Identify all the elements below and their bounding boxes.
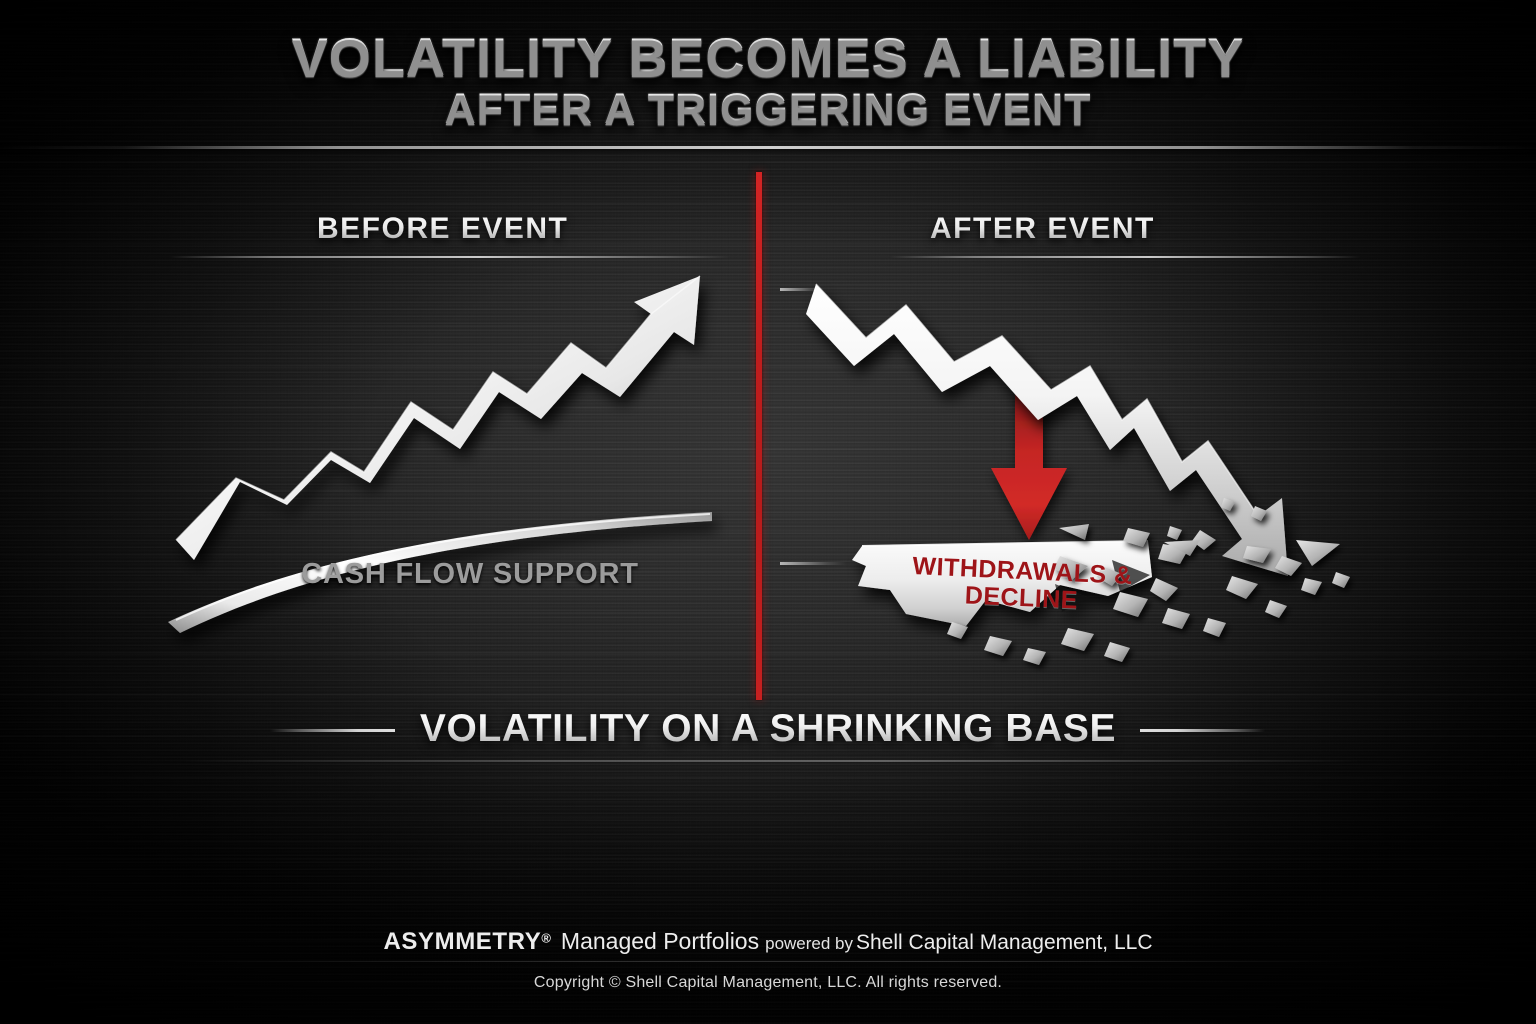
infographic-artwork	[0, 0, 1536, 1024]
infographic-canvas: VOLATILITY BECOMES A LIABILITY AFTER A T…	[0, 0, 1536, 1024]
banner-glow-line	[180, 760, 1360, 762]
footer-divider-rule	[170, 961, 1366, 962]
falling-trend-arrow	[806, 284, 1288, 576]
brand-powered-by: powered by	[765, 934, 853, 953]
banner-rule-left	[270, 729, 395, 732]
registered-trademark-symbol: ®	[541, 931, 551, 946]
banner-rule-right	[1140, 729, 1265, 732]
summary-banner-text: VOLATILITY ON A SHRINKING BASE	[0, 707, 1536, 751]
footer-brand-line: ASYMMETRY®Managed Portfoliospowered bySh…	[0, 928, 1536, 956]
copyright-notice: Copyright © Shell Capital Management, LL…	[0, 974, 1536, 992]
rising-trend-arrow	[176, 276, 700, 560]
summary-banner: VOLATILITY ON A SHRINKING BASE	[0, 707, 1536, 763]
cash-flow-support-label: CASH FLOW SUPPORT	[190, 558, 750, 591]
brand-firm: Shell Capital Management, LLC	[856, 931, 1153, 954]
brand-name: ASYMMETRY	[383, 928, 541, 955]
brand-product: Managed Portfolios	[561, 928, 759, 954]
